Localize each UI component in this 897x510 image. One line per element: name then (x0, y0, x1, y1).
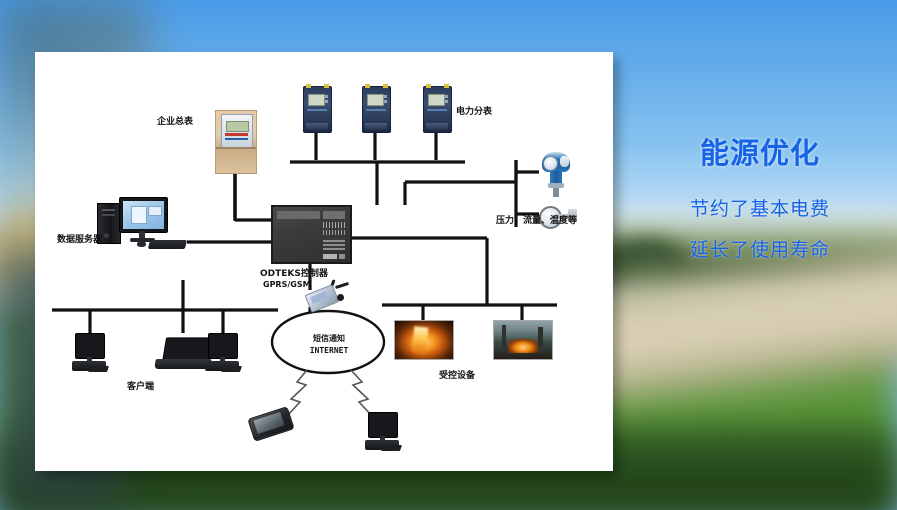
meter-strip (216, 147, 256, 149)
workstation (205, 333, 241, 373)
transmitter-cap (560, 156, 569, 167)
panel-title: 能源优化 (630, 130, 890, 172)
controller-keypad (323, 238, 345, 250)
sub-energy-meter-1 (303, 86, 332, 133)
panel-benefit-1: 节约了基本电费 (630, 194, 890, 221)
panel-benefit-2: 延长了使用寿命 (630, 235, 890, 262)
label-sensors: 压力、流量、温度等 (496, 213, 577, 226)
label-internet: INTERNET (303, 346, 355, 355)
controller-terminal-strip (323, 222, 345, 228)
mouse (137, 241, 146, 247)
meter-tab-right (324, 84, 329, 88)
meter-lcd (308, 94, 325, 106)
keyboard (381, 445, 402, 451)
meter-terminal-cover (365, 123, 387, 130)
meter-line (427, 109, 447, 111)
meter-button (384, 95, 387, 98)
meter-button (445, 95, 448, 98)
pc-drive-slot-2 (102, 214, 115, 216)
controller-display (277, 211, 320, 219)
meter-lcd (226, 121, 249, 132)
modem-device (307, 280, 347, 310)
smartphone (250, 410, 294, 446)
pc-drive-slot (102, 209, 115, 211)
keyboard (148, 240, 187, 249)
pc-monitor (119, 197, 168, 233)
meter-tab-right (383, 84, 388, 88)
gsm-modem (307, 280, 347, 310)
sub-energy-meter-3 (423, 86, 452, 133)
odteks-controller (271, 205, 352, 264)
laptop-keyboard (154, 359, 211, 369)
controller-terminal-strip-2 (323, 230, 345, 235)
controlled-equipment-photo-1 (394, 320, 454, 360)
meter-tab-left (365, 84, 370, 88)
transmitter-head (542, 152, 570, 172)
meter-tab-left (306, 84, 311, 88)
label-data-server: 数据服务器 (57, 232, 102, 245)
controller-display-secondary (323, 211, 345, 219)
meter-terminal-cover (306, 123, 328, 130)
transmitter (539, 152, 573, 198)
client-workstation-1 (72, 333, 108, 373)
label-main-meter: 企业总表 (157, 114, 193, 127)
label-sub-meters: 电力分表 (456, 104, 492, 117)
furnace-flame (508, 339, 538, 353)
label-controller: ODTEKS控制器 (260, 266, 328, 279)
antenna-connector (337, 294, 344, 301)
workstation (72, 333, 108, 373)
label-sms-notification: 短信通知 (303, 333, 355, 344)
meter-line (307, 109, 327, 111)
data-server-pc (97, 197, 189, 253)
remote-workstation (365, 412, 401, 452)
molten-stream (412, 326, 429, 353)
meter-tab-right (444, 84, 449, 88)
main-energy-meter (215, 110, 257, 174)
pressure-transmitter (539, 152, 573, 198)
meter-line (366, 109, 386, 111)
keyboard (221, 366, 242, 372)
workstation (365, 412, 401, 452)
remote-smartphone (250, 410, 294, 446)
meter-red-bar (225, 133, 248, 136)
transmitter-dial (543, 156, 558, 171)
meter-tab-left (426, 84, 431, 88)
power-button-icon (104, 233, 109, 238)
meter-button-2 (445, 100, 448, 103)
right-text-panel: 能源优化 节约了基本电费 延长了使用寿命 (630, 130, 890, 276)
label-clients: 客户端 (127, 379, 154, 392)
meter-lcd (428, 94, 445, 106)
meter-button (325, 95, 328, 98)
controlled-equipment-photo-2 (493, 320, 553, 360)
controller-label-plate (323, 254, 337, 259)
transmitter-stem (553, 188, 559, 197)
label-gprs-gsm: GPRS/GSM (263, 280, 311, 289)
monitor-screen (208, 333, 238, 359)
sub-energy-meter-2 (362, 86, 391, 133)
keyboard (88, 366, 109, 372)
monitor-screen (75, 333, 105, 359)
client-laptop (155, 337, 211, 371)
meter-blue-bar (225, 138, 248, 140)
meter-lcd (367, 94, 384, 106)
controller-indicator (339, 254, 345, 259)
monitor-screen (368, 412, 398, 438)
furnace-post (502, 325, 506, 347)
furnace-post-2 (538, 327, 543, 347)
screen-window (131, 206, 147, 224)
laptop (155, 337, 211, 371)
antenna-icon-2 (335, 282, 349, 289)
meter-button-2 (325, 100, 328, 103)
meter-button-2 (384, 100, 387, 103)
diagram-card: 企业总表 电力分表 ODTEKS控制器 (35, 52, 613, 471)
client-workstation-2 (205, 333, 241, 373)
meter-terminal-cover (426, 123, 448, 130)
monitor-stand (139, 231, 145, 238)
monitor-screen (123, 201, 164, 229)
screen-window-2 (148, 206, 162, 216)
label-controlled-equipment: 受控设备 (439, 368, 475, 381)
meter-head (221, 114, 253, 149)
